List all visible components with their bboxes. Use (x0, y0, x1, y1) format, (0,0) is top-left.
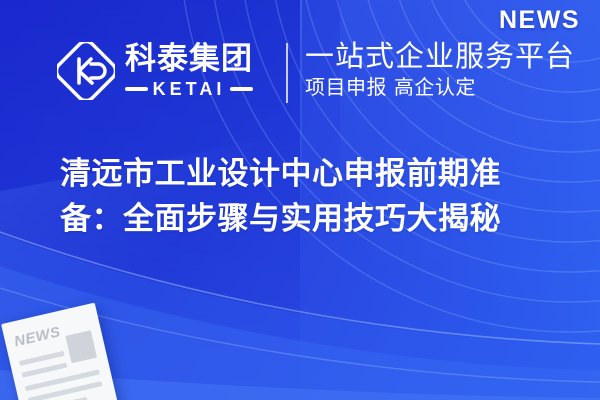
brand-wordmark: 科泰集团 KETAI (125, 44, 253, 98)
brand-name-en-row: KETAI (125, 80, 253, 98)
brand-name-en: KETAI (153, 80, 226, 98)
brand-name-cn: 科泰集团 (125, 44, 253, 75)
article-title: 清远市工业设计中心申报前期准备：全面步骤与实用技巧大揭秘 (60, 152, 560, 242)
news-banner: NEWS 科泰集团 KETAI 一站式企业服务 (0, 0, 600, 400)
brand-logo[interactable]: 科泰集团 KETAI (57, 42, 253, 100)
header-divider (286, 43, 288, 103)
slogan-sub-text: 项目申报 高企认定 (305, 76, 575, 99)
ketai-kt-monogram-icon (57, 42, 115, 100)
brand-dash-left (125, 87, 148, 91)
brand-dash-right (230, 87, 253, 91)
brand-slogan: 一站式企业服务平台 项目申报 高企认定 (305, 40, 575, 99)
news-tag-label: NEWS (499, 6, 580, 35)
banner-header: NEWS 科泰集团 KETAI 一站式企业服务 (0, 0, 600, 128)
slogan-main-text: 一站式企业服务平台 (305, 40, 575, 72)
